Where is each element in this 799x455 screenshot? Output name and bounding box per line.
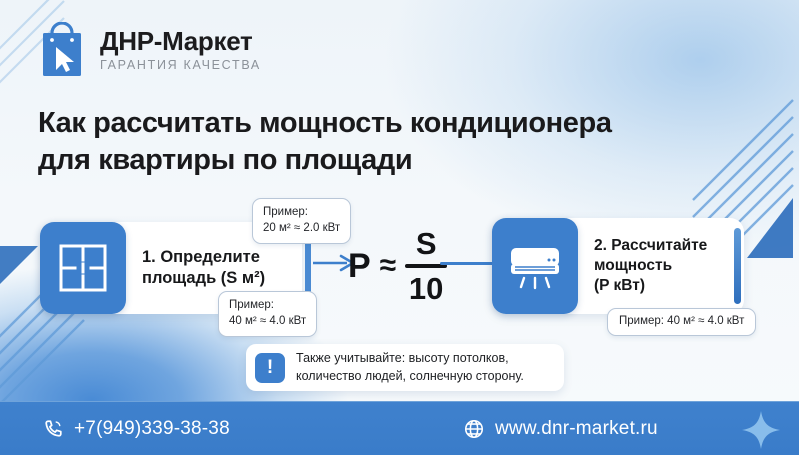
note-additional-factors: ! Также учитывайте: высоту потолков, кол…: [246, 344, 564, 391]
formula-approx: ≈: [380, 251, 396, 281]
page-title: Как рассчитать мощность кондиционера для…: [38, 105, 773, 178]
headline-line-1: Как рассчитать мощность кондиционера: [38, 107, 612, 139]
headline-line-2: для квартиры по площади: [38, 142, 773, 179]
formula-power: P ≈ S 10: [348, 228, 447, 304]
formula-fraction: S 10: [405, 228, 447, 304]
floor-plan-icon: [57, 242, 109, 294]
step-2-label: 2. Рассчитайте мощность (P кВт): [578, 218, 725, 314]
step-2-accent-bar: [734, 228, 741, 304]
shopping-bag-cursor-icon: [38, 22, 86, 78]
logo-text: ДНР-Маркет ГАРАНТИЯ КАЧЕСТВА: [100, 28, 261, 72]
brand-name: ДНР-Маркет: [100, 28, 261, 55]
air-conditioner-icon: [507, 240, 563, 292]
formula-numerator: S: [416, 228, 437, 261]
globe-icon: [463, 418, 485, 440]
tooltip-example-result: Пример: 40 м² ≈ 4.0 кВт: [607, 308, 756, 336]
exclamation-icon: !: [255, 353, 285, 383]
footer-website[interactable]: www.dnr-market.ru: [463, 418, 658, 440]
footer-website-text: www.dnr-market.ru: [495, 418, 658, 440]
step-1-icon-box: [40, 222, 126, 314]
tooltip-example-20: Пример: 20 м² ≈ 2.0 кВт: [252, 198, 351, 244]
footer-phone-text: +7(949)339-38-38: [74, 418, 230, 440]
formula-p: P: [348, 249, 371, 283]
infographic-canvas: ДНР-Маркет ГАРАНТИЯ КАЧЕСТВА Как рассчит…: [0, 0, 799, 455]
logo: ДНР-Маркет ГАРАНТИЯ КАЧЕСТВА: [38, 22, 261, 78]
tooltip-example-40: Пример: 40 м² ≈ 4.0 кВт: [218, 291, 317, 337]
footer-bar: +7(949)339-38-38 www.dnr-market.ru: [0, 401, 799, 455]
brand-tagline: ГАРАНТИЯ КАЧЕСТВА: [100, 59, 261, 72]
step-card-calculate-power: 2. Рассчитайте мощность (P кВт): [492, 218, 744, 314]
step-2-icon-box: [492, 218, 578, 314]
formula-denominator: 10: [409, 271, 443, 304]
phone-icon: [42, 418, 64, 440]
sparkle-icon: [739, 408, 783, 452]
formula-to-step2-connector: [440, 262, 496, 265]
footer-phone[interactable]: +7(949)339-38-38: [42, 418, 230, 440]
note-text: Также учитывайте: высоту потолков, колич…: [296, 350, 524, 385]
